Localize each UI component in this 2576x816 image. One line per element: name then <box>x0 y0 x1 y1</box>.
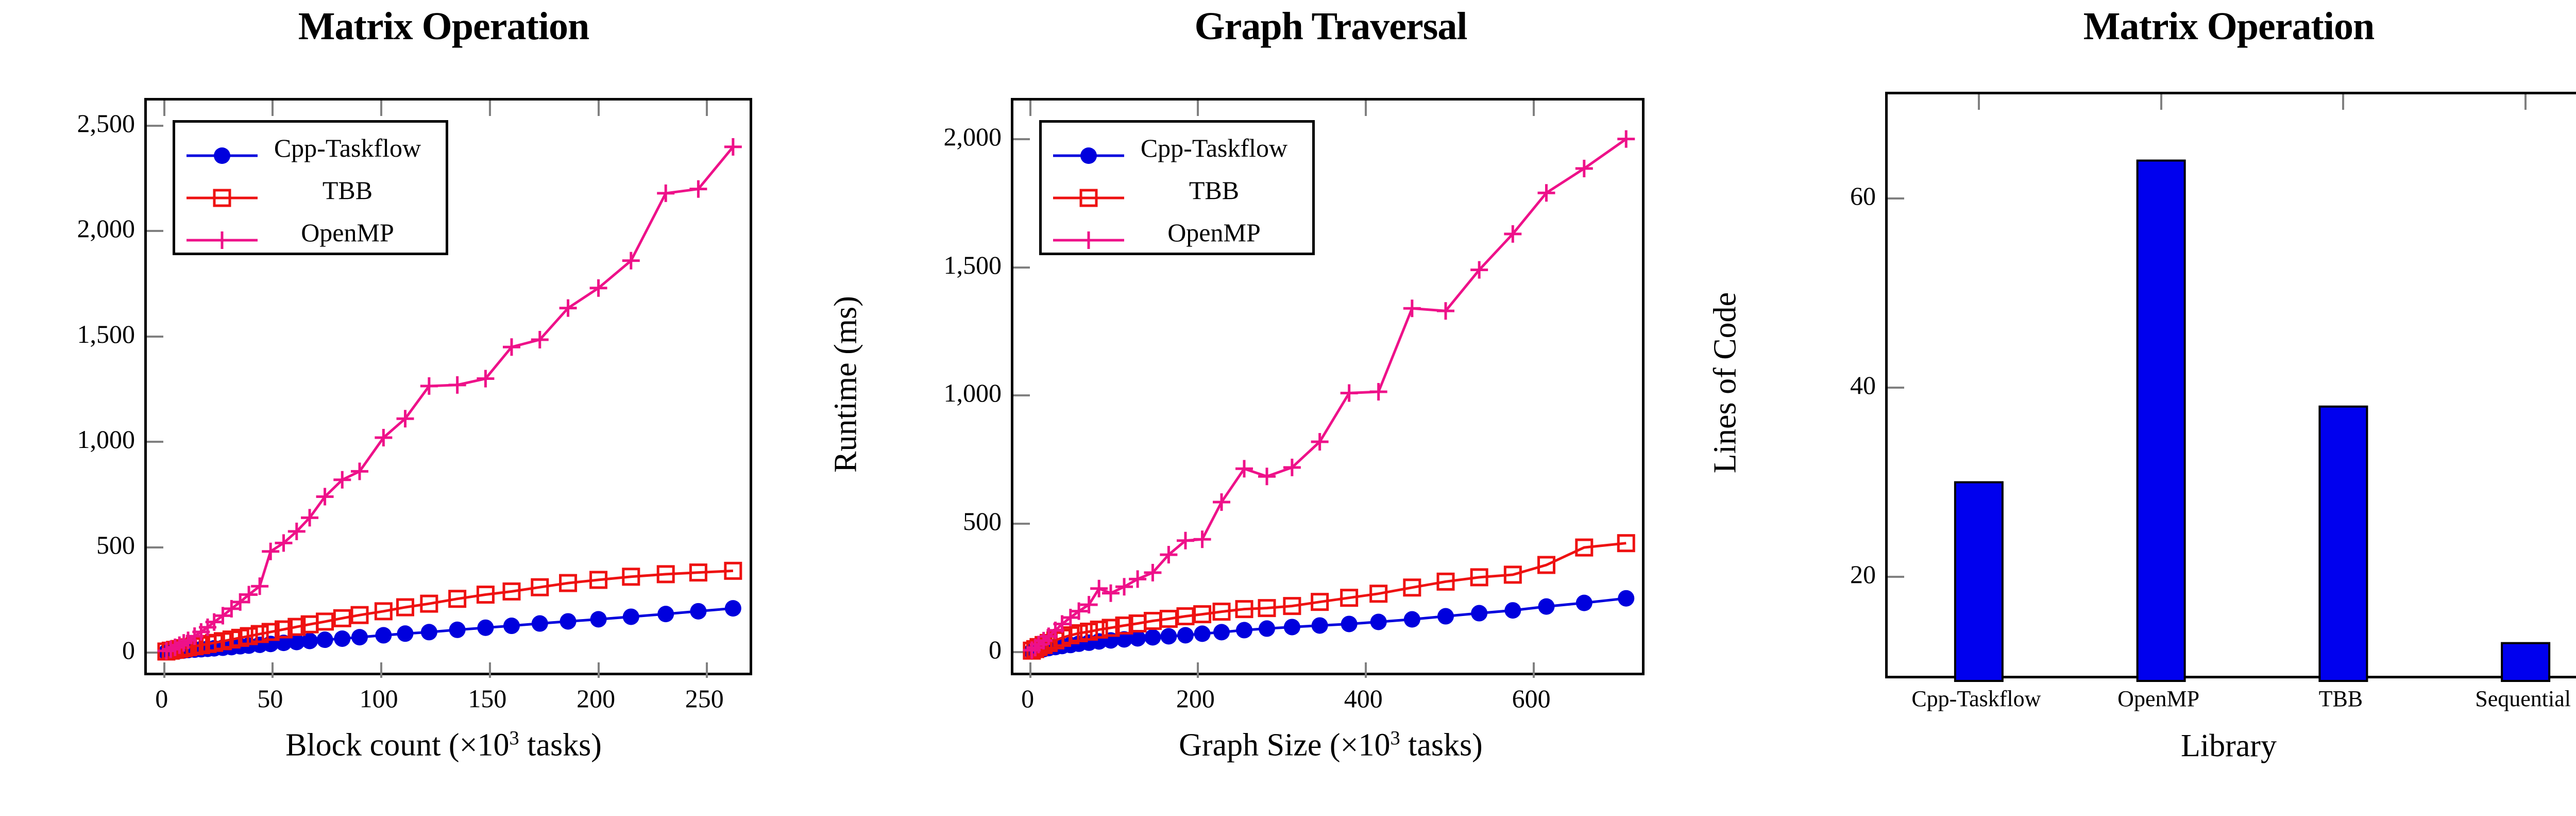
x-axis-label-exponent: 3 <box>510 727 519 749</box>
data-point-marker <box>334 630 350 647</box>
data-point-marker <box>421 624 437 640</box>
x-tick-label: 150 <box>468 684 506 713</box>
bar-cpp-taskflow <box>1955 482 2003 681</box>
x-axis-label-pre: Graph Size (×10 <box>1179 728 1390 763</box>
x-tick-label: 100 <box>360 684 398 713</box>
data-point-marker <box>503 618 520 634</box>
data-point-marker <box>657 606 674 622</box>
data-point-marker <box>1471 605 1487 622</box>
data-point-marker <box>317 631 333 648</box>
x-axis-label-post: tasks) <box>1400 728 1483 763</box>
legend-marker-plus <box>183 225 261 240</box>
y-tick-label: 2,000 <box>944 122 1002 152</box>
legend-item: TBB <box>1042 169 1312 211</box>
legend-label: OpenMP <box>261 218 437 247</box>
panel-graph-traversal-runtime: Graph Traversal Runtime (ms) Graph Size … <box>887 0 1774 816</box>
x-axis-label: Block count (×103 tasks) <box>0 727 887 764</box>
data-point-marker <box>1538 598 1555 615</box>
data-point-marker <box>1437 608 1454 625</box>
x-tick-label: 200 <box>577 684 615 713</box>
legend-label: TBB <box>261 175 437 205</box>
legend-item: Cpp-Taskflow <box>1042 127 1312 169</box>
x-axis-label-exponent: 3 <box>1390 727 1400 749</box>
panel-title: Matrix Operation <box>0 4 887 49</box>
data-point-marker <box>1404 611 1420 628</box>
y-tick-label: 1,000 <box>944 378 1002 408</box>
data-point-marker <box>1576 595 1592 611</box>
y-tick-label: 0 <box>989 635 1002 664</box>
x-category-label: TBB <box>2319 686 2363 712</box>
bar-openmp <box>2138 160 2185 681</box>
figure-panel-row: Matrix Operation Runtime (ms) Block coun… <box>0 0 2576 816</box>
data-point-marker <box>214 147 230 164</box>
data-point-marker <box>560 613 577 629</box>
x-tick-label: 0 <box>155 684 168 713</box>
x-category-label: Sequential <box>2475 686 2571 712</box>
panel-matrix-operation-runtime: Matrix Operation Runtime (ms) Block coun… <box>0 0 887 816</box>
data-point-marker <box>532 615 548 632</box>
y-tick-label: 500 <box>96 530 135 560</box>
data-point-marker <box>590 611 607 627</box>
legend-label: Cpp-Taskflow <box>261 133 437 163</box>
data-point-marker <box>1236 622 1252 638</box>
panel-title: Graph Traversal <box>887 4 1774 49</box>
chart-legend: Cpp-TaskflowTBBOpenMP <box>1039 120 1315 255</box>
data-point-marker <box>1080 147 1097 164</box>
data-point-marker <box>1284 619 1300 635</box>
legend-item: Cpp-Taskflow <box>175 127 446 169</box>
y-tick-label: 40 <box>1850 370 1876 400</box>
plot-area <box>1885 92 2576 678</box>
bar-sequential <box>2502 643 2549 681</box>
panel-title: Matrix Operation <box>1774 4 2576 49</box>
x-category-label: OpenMP <box>2117 686 2199 712</box>
y-axis-label: Lines of Code <box>1707 187 1744 579</box>
x-tick-label: 250 <box>685 684 724 713</box>
data-point-marker <box>1504 602 1521 619</box>
x-tick-label: 600 <box>1512 684 1551 713</box>
y-tick-label: 2,500 <box>77 108 135 138</box>
panel-matrix-operation-loc: Matrix Operation Lines of Code Library 2… <box>1774 0 2576 816</box>
legend-item: OpenMP <box>175 211 446 254</box>
data-point-marker <box>397 625 414 642</box>
bar-tbb <box>2319 407 2367 681</box>
y-tick-label: 1,500 <box>77 319 135 349</box>
y-tick-label: 2,000 <box>77 213 135 243</box>
data-point-marker <box>1312 617 1328 634</box>
y-tick-label: 500 <box>963 506 1002 536</box>
x-axis-label-post: tasks) <box>519 728 602 763</box>
data-point-marker <box>725 600 741 617</box>
x-axis-label: Graph Size (×103 tasks) <box>887 727 1774 764</box>
legend-marker-filled-circle <box>1050 140 1127 156</box>
x-category-label: Cpp-Taskflow <box>1911 686 2041 712</box>
x-axis-label: Library <box>1774 728 2576 764</box>
data-point-marker <box>375 627 392 643</box>
data-point-marker <box>449 622 466 638</box>
y-tick-label: 0 <box>122 635 135 665</box>
data-point-marker <box>477 620 494 636</box>
data-point-marker <box>1144 629 1161 645</box>
data-point-marker <box>690 603 706 620</box>
data-point-marker <box>351 629 368 645</box>
bar-layer <box>1888 94 2576 681</box>
y-tick-label: 1,000 <box>77 424 135 454</box>
data-point-marker <box>1259 620 1275 637</box>
legend-item: TBB <box>175 169 446 211</box>
y-axis-label: Runtime (ms) <box>828 189 865 580</box>
data-point-marker <box>1213 624 1230 640</box>
legend-marker-filled-circle <box>183 140 261 156</box>
data-point-marker <box>1160 628 1177 644</box>
chart-legend: Cpp-TaskflowTBBOpenMP <box>173 120 448 255</box>
data-point-marker <box>1177 627 1194 643</box>
data-point-marker <box>1341 615 1358 632</box>
legend-label: OpenMP <box>1127 218 1304 247</box>
x-tick-label: 200 <box>1176 684 1215 713</box>
legend-label: TBB <box>1127 175 1304 205</box>
legend-marker-open-square <box>183 182 261 198</box>
data-point-marker <box>1370 613 1387 630</box>
data-point-marker <box>1194 625 1211 642</box>
data-point-marker <box>1618 590 1634 607</box>
legend-marker-open-square <box>1050 182 1127 198</box>
x-axis-label-pre: Block count (×10 <box>285 728 509 763</box>
data-point-marker <box>623 608 639 625</box>
y-tick-label: 20 <box>1850 559 1876 589</box>
x-tick-label: 400 <box>1344 684 1383 713</box>
x-tick-label: 0 <box>1021 684 1034 713</box>
plot-area: Cpp-TaskflowTBBOpenMP <box>1011 98 1645 675</box>
y-tick-label: 60 <box>1850 181 1876 211</box>
legend-item: OpenMP <box>1042 211 1312 254</box>
legend-marker-plus <box>1050 225 1127 240</box>
x-tick-label: 50 <box>257 684 283 713</box>
legend-label: Cpp-Taskflow <box>1127 133 1304 163</box>
plot-area: Cpp-TaskflowTBBOpenMP <box>144 98 752 675</box>
y-tick-label: 1,500 <box>944 250 1002 280</box>
